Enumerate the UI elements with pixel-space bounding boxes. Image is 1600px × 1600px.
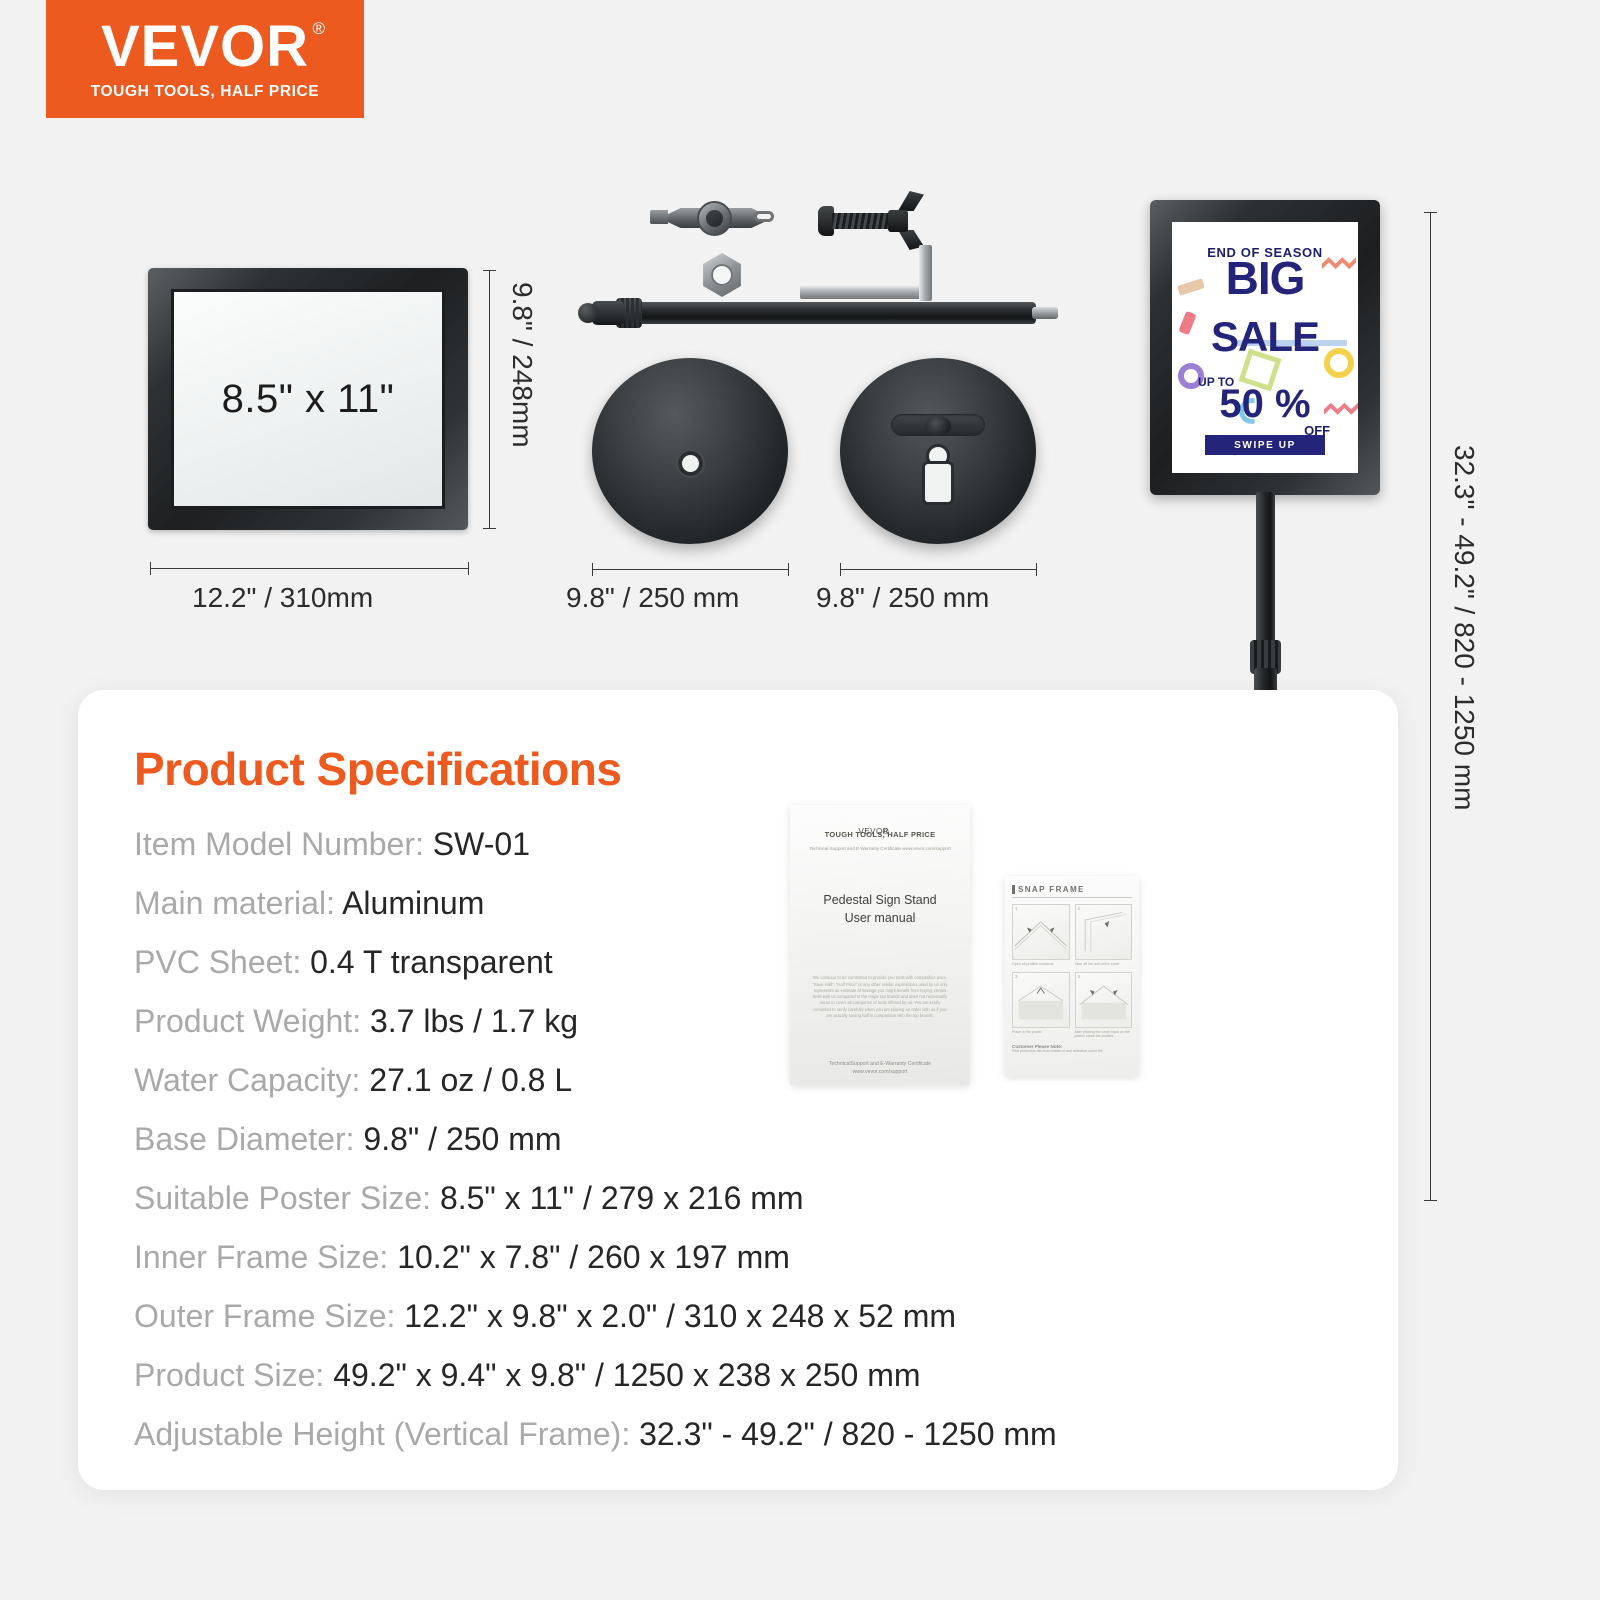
stand-height-dim-cap-bottom — [1424, 1200, 1437, 1201]
snap-step-illustration: 3 — [1012, 972, 1070, 1028]
base-center-hole — [682, 455, 699, 472]
vevor-logo: VEVOR ® TOUGH TOOLS, HALF PRICE — [46, 0, 364, 118]
snap-step: 2 Take off the anti-reflex cover — [1075, 904, 1133, 967]
poster-percent-label: 50 % — [1172, 385, 1358, 423]
snap-step-illustration: 4 — [1075, 972, 1133, 1028]
spec-row: Inner Frame Size: 10.2" x 7.8" / 260 x 1… — [134, 1228, 1364, 1287]
brand-name-text: VEVOR — [101, 14, 309, 79]
frame-width-dim-line — [150, 568, 468, 569]
spec-label: Main material: — [134, 885, 335, 921]
spec-value: Aluminum — [342, 885, 484, 921]
snap-step-illustration: 1 — [1012, 904, 1070, 960]
pole-metal-tip — [1032, 307, 1058, 319]
user-manual-sheet: VEVOR ® TOUGH TOOLS, HALF PRICE Technica… — [790, 805, 970, 1085]
stand-upper-pole — [1256, 492, 1275, 652]
manual-title: Pedestal Sign Stand User manual — [823, 891, 936, 927]
snap-step-number: 4 — [1078, 974, 1081, 979]
manual-title-line-1: Pedestal Sign Stand — [823, 893, 936, 907]
water-fill-plug-cap — [929, 447, 947, 465]
spec-row: Outer Frame Size: 12.2" x 9.8" x 2.0" / … — [134, 1287, 1364, 1346]
snap-step-2-drawing — [1076, 905, 1132, 959]
snap-step-1-drawing — [1013, 905, 1069, 959]
pole-tube — [630, 302, 1036, 324]
spec-label: Base Diameter: — [134, 1121, 355, 1157]
hex-nut-part — [700, 253, 744, 297]
registered-mark-icon: ® — [313, 20, 327, 37]
snap-frame-front-view: 8.5" x 11" — [148, 268, 468, 530]
wing-bolt-thread — [832, 213, 894, 229]
pole-ball-end — [578, 303, 598, 323]
snap-frame-instruction-sheet: SNAP FRAME 1 Open all profiles outwards … — [1005, 876, 1139, 1076]
spec-value: 3.7 lbs / 1.7 kg — [370, 1003, 578, 1039]
spanner-hub — [697, 201, 732, 236]
poster-size-label: 8.5" x 11" — [222, 377, 395, 422]
wing-bolt-part — [818, 192, 926, 250]
stand-sign-frame: END OF SEASON BIG SALE UP TO 50 % OFF SW… — [1150, 200, 1380, 495]
spanner-tail — [650, 210, 668, 224]
manual-footer: TechnicalSupport and E-Warranty Certific… — [829, 1061, 931, 1077]
page-title: Product Specifications — [134, 742, 621, 796]
spec-row: Main material: Aluminum — [134, 874, 1364, 933]
base-t-recess-center — [925, 416, 951, 436]
snap-step: 4 After placing the cover back on the po… — [1075, 972, 1133, 1039]
stand-height-dim-label: 32.3" - 49.2" / 820 - 1250 mm — [1448, 445, 1480, 810]
product-specifications-card: Product Specifications Item Model Number… — [78, 690, 1398, 1490]
poster-headline-big: BIG — [1172, 257, 1358, 301]
spec-label: Product Weight: — [134, 1003, 361, 1039]
manual-footer-line-1: TechnicalSupport and E-Warranty Certific… — [829, 1061, 931, 1067]
product-spec-page: VEVOR ® TOUGH TOOLS, HALF PRICE 8.5" x 1… — [0, 0, 1600, 1600]
brand-name: VEVOR ® — [101, 18, 309, 76]
snap-step-number: 1 — [1015, 906, 1018, 911]
manual-registered-icon: ® — [883, 827, 889, 836]
spec-value: SW-01 — [433, 826, 530, 862]
spec-value: 10.2" x 7.8" / 260 x 197 mm — [397, 1239, 790, 1275]
spec-row: Base Diameter: 9.8" / 250 mm — [134, 1110, 1364, 1169]
snap-step-number: 2 — [1078, 906, 1081, 911]
sale-poster: END OF SEASON BIG SALE UP TO 50 % OFF SW… — [1172, 222, 1358, 473]
base-bottom-dim-cap-left — [840, 563, 841, 576]
hex-nut-hole — [711, 264, 733, 286]
base-disc-top-view — [592, 358, 788, 544]
spec-row: Suitable Poster Size: 8.5" x 11" / 279 x… — [134, 1169, 1364, 1228]
frame-inner-panel: 8.5" x 11" — [174, 292, 442, 506]
stand-frame-window: END OF SEASON BIG SALE UP TO 50 % OFF SW… — [1172, 222, 1358, 473]
wing-nut-body — [888, 210, 908, 232]
spec-row: Product Size: 49.2" x 9.4" x 9.8" / 1250… — [134, 1346, 1364, 1405]
poster-cta-button: SWIPE UP — [1205, 435, 1324, 455]
snap-sheet-heading: SNAP FRAME — [1012, 885, 1132, 898]
spec-value: 49.2" x 9.4" x 9.8" / 1250 x 238 x 250 m… — [333, 1357, 920, 1393]
wing-nut-wing-upper — [898, 191, 924, 211]
base-top-dim-line — [592, 569, 788, 570]
stand-height-dim-cap-top — [1424, 212, 1437, 213]
snap-step-number: 3 — [1015, 974, 1018, 979]
spec-label: Product Size: — [134, 1357, 324, 1393]
base-bottom-dim-cap-right — [1036, 563, 1037, 576]
spec-label: Suitable Poster Size: — [134, 1180, 431, 1216]
spec-value: 12.2" x 9.8" x 2.0" / 310 x 248 x 52 mm — [404, 1298, 956, 1334]
base-bottom-dim-line — [840, 569, 1036, 570]
spec-value: 27.1 oz / 0.8 L — [369, 1062, 572, 1098]
base-top-dim-cap-left — [592, 563, 593, 576]
spec-label: Water Capacity: — [134, 1062, 360, 1098]
snap-step-caption: After placing the cover back on the post… — [1075, 1030, 1133, 1039]
spec-label: Inner Frame Size: — [134, 1239, 388, 1275]
snap-step-4-drawing — [1076, 973, 1132, 1027]
snap-step-caption: Open all profiles outwards — [1012, 962, 1070, 967]
spec-row: Item Model Number: SW-01 — [134, 815, 1364, 874]
manual-support-line: Technical Support and E-Warranty Certifi… — [809, 846, 951, 851]
spec-row: Product Weight: 3.7 lbs / 1.7 kg — [134, 992, 1364, 1051]
brand-tagline: TOUGH TOOLS, HALF PRICE — [91, 83, 320, 101]
snap-step: 3 Place in the poster — [1012, 972, 1070, 1039]
frame-width-dim-label: 12.2" / 310mm — [192, 582, 373, 614]
telescoping-pole-part — [578, 292, 1058, 334]
frame-height-dim-cap-top — [483, 270, 496, 271]
snap-step-3-drawing — [1013, 973, 1069, 1027]
frame-width-dim-cap-right — [468, 562, 469, 575]
spec-value: 8.5" x 11" / 279 x 216 mm — [440, 1180, 804, 1216]
snap-step-illustration: 2 — [1075, 904, 1133, 960]
spec-value: 0.4 T transparent — [310, 944, 553, 980]
base-top-dim-cap-right — [788, 563, 789, 576]
base-disc-bottom-view — [840, 358, 1036, 544]
spec-row: Adjustable Height (Vertical Frame): 32.3… — [134, 1405, 1364, 1464]
manual-body-text: We continue to be committed to provide y… — [804, 975, 956, 1019]
snap-step: 1 Open all profiles outwards — [1012, 904, 1070, 967]
frame-height-dim-line — [489, 270, 490, 528]
base-top-dim-label: 9.8" / 250 mm — [566, 582, 739, 614]
manual-title-line-2: User manual — [845, 911, 916, 925]
frame-height-dim-label: 9.8" / 248mm — [506, 282, 538, 448]
water-fill-plug-body — [925, 464, 951, 502]
snap-step-caption: Place in the poster — [1012, 1030, 1070, 1035]
spec-row: Water Capacity: 27.1 oz / 0.8 L — [134, 1051, 1364, 1110]
spec-label: Adjustable Height (Vertical Frame): — [134, 1416, 630, 1452]
snap-sheet-steps: 1 Open all profiles outwards 2 — [1012, 904, 1132, 1039]
base-bottom-dim-label: 9.8" / 250 mm — [816, 582, 989, 614]
manual-footer-line-2: www.vevor.com/support — [853, 1069, 908, 1075]
spec-value: 32.3" - 49.2" / 820 - 1250 mm — [639, 1416, 1057, 1452]
spec-label: Item Model Number: — [134, 826, 424, 862]
frame-height-dim-cap-bottom — [483, 528, 496, 529]
spec-row: PVC Sheet: 0.4 T transparent — [134, 933, 1364, 992]
stand-height-dim-line — [1430, 212, 1431, 1200]
frame-width-dim-cap-left — [150, 562, 151, 575]
poster-headline-sale: SALE — [1172, 317, 1358, 357]
spec-list: Item Model Number: SW-01 Main material: … — [134, 815, 1364, 1464]
spanner-eye — [754, 211, 774, 222]
spanner-wrench-part — [650, 196, 780, 240]
snap-step-caption: Take off the anti-reflex cover — [1075, 962, 1133, 967]
snap-sheet-note-body: Peel protective film from inside of anti… — [1012, 1049, 1132, 1054]
spec-value: 9.8" / 250 mm — [363, 1121, 561, 1157]
spec-label: PVC Sheet: — [134, 944, 301, 980]
spec-label: Outer Frame Size: — [134, 1298, 395, 1334]
